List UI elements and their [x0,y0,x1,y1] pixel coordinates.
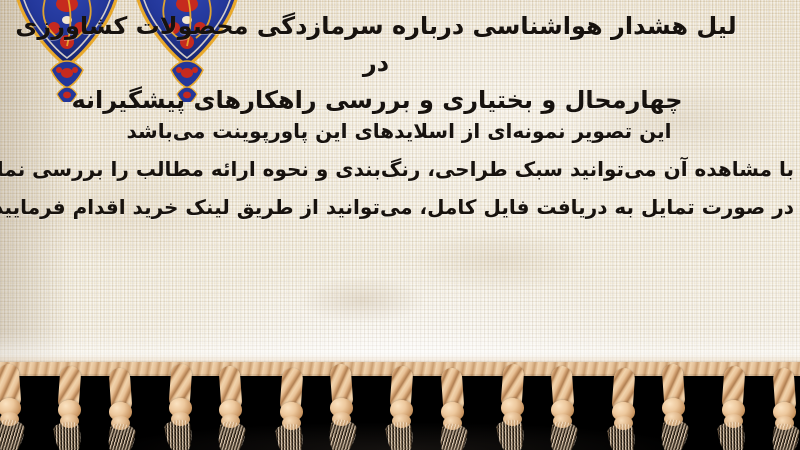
fringe-tassel [491,362,535,450]
fringe-brush [606,422,636,450]
fringe-brush [53,420,83,450]
fringe-tassel [320,362,364,450]
fringe-tassel [48,364,92,450]
body-line-3: در صورت تمایل به دریافت فایل کامل، می‌تو… [4,188,794,226]
fringe-brush [658,418,690,450]
fringe-brush [164,418,194,450]
carpet-fringe-tassels [0,362,800,450]
fringe-tassel [712,364,756,450]
body-line-1: این تصویر نمونه‌ای از اسلایدهای این پاور… [4,112,794,150]
fringe-tassel [602,366,646,450]
fringe-brush [717,420,747,450]
fringe-brush [274,422,304,450]
fringe-tassel [380,364,424,450]
fringe-tassel [99,366,143,450]
title-line-1: لیل هشدار هواشناسی درباره سرمازدگی محصول… [2,8,792,82]
slide-body: این تصویر نمونه‌ای از اسلایدهای این پاور… [4,112,794,226]
fringe-tassel [541,364,585,450]
fringe-brush [326,418,358,450]
fringe-brush [0,418,26,450]
fringe-tassel [209,364,253,450]
fringe-brush [548,420,580,450]
fringe-tassel [159,362,203,450]
fringe-brush [216,420,248,450]
fringe-brush [769,422,800,450]
fringe-tassel [0,362,32,450]
fringe-brush [496,418,526,450]
slide-title: لیل هشدار هواشناسی درباره سرمازدگی محصول… [2,8,792,119]
fringe-tassel [763,366,800,450]
fringe-tassel [270,366,314,450]
fringe-brush [437,422,469,450]
body-line-2: با مشاهده آن می‌توانید سبک طراحی، رنگ‌بن… [4,150,794,188]
slide-text-layer: لیل هشدار هواشناسی درباره سرمازدگی محصول… [0,0,800,378]
slide-canvas: لیل هشدار هواشناسی درباره سرمازدگی محصول… [0,0,800,450]
fringe-tassel [431,366,475,450]
fringe-tassel [652,362,696,450]
fringe-brush [105,422,137,450]
fringe-brush [385,420,415,450]
